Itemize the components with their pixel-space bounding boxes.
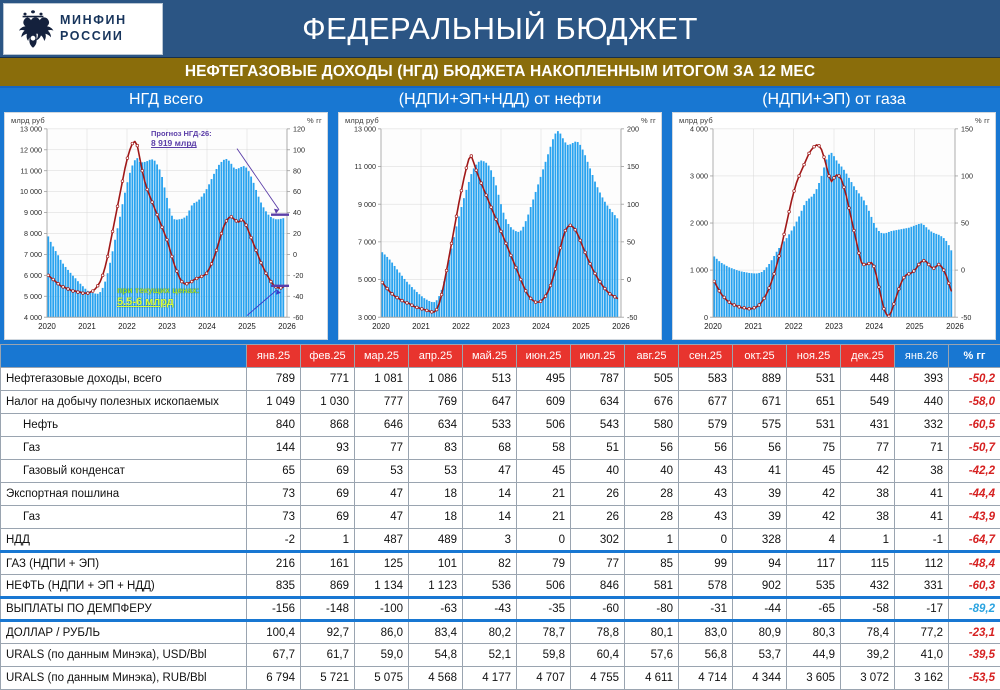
cell-авг.25: 57,6 — [625, 644, 679, 667]
svg-text:150: 150 — [627, 163, 639, 171]
cell-май.25: -43 — [463, 598, 517, 621]
cell-апр.25: 4 568 — [409, 667, 463, 690]
cell-июл.25: 787 — [571, 368, 625, 391]
cell-дек.25: 39,2 — [841, 644, 895, 667]
header-month-10: ноя.25 — [787, 345, 841, 368]
header-month-1: фев.25 — [301, 345, 355, 368]
cell-мар.25: 47 — [355, 483, 409, 506]
cell-июн.25: 609 — [517, 391, 571, 414]
svg-text:20: 20 — [293, 230, 301, 238]
cell-июл.25: 60,4 — [571, 644, 625, 667]
cell-июн.25: 59,8 — [517, 644, 571, 667]
row-label: URALS (по данным Минэка), RUB/Bbl — [1, 667, 247, 690]
cell-сен.25: 677 — [679, 391, 733, 414]
cell-авг.25: 28 — [625, 506, 679, 529]
svg-text:2026: 2026 — [946, 322, 964, 331]
svg-text:5 000: 5 000 — [24, 293, 42, 301]
cell-июл.25: 4 755 — [571, 667, 625, 690]
svg-text:0: 0 — [293, 251, 297, 259]
cell-дек.25: 432 — [841, 575, 895, 598]
cell-янв.25: 789 — [247, 368, 301, 391]
cell-сен.25: 56 — [679, 437, 733, 460]
cell-янв.25: 144 — [247, 437, 301, 460]
cell-фев.25: 69 — [301, 506, 355, 529]
cell-yoy: -58,0 — [949, 391, 1000, 414]
svg-text:4 000: 4 000 — [690, 125, 708, 133]
row-label: Налог на добычу полезных ископаемых — [1, 391, 247, 414]
cell-авг.25: 505 — [625, 368, 679, 391]
svg-text:3 000: 3 000 — [358, 314, 376, 322]
chart-panel-oil: (НДПИ+ЭП+НДД) от нефти млрд руб % гг 3 0… — [332, 88, 666, 344]
cell-дек.25: 549 — [841, 391, 895, 414]
data-table-wrapper: янв.25фев.25мар.25апр.25май.25июн.25июл.… — [0, 344, 1000, 689]
cell-янв.25: 65 — [247, 460, 301, 483]
cell-июл.25: 26 — [571, 506, 625, 529]
svg-text:2024: 2024 — [865, 322, 883, 331]
header-blank-cell — [1, 345, 247, 368]
svg-text:6 000: 6 000 — [24, 272, 42, 280]
cell-окт.25: 53,7 — [733, 644, 787, 667]
header-month-5: июн.25 — [517, 345, 571, 368]
svg-text:2021: 2021 — [78, 322, 96, 331]
header-yoy: % гг — [949, 345, 1000, 368]
svg-text:100: 100 — [961, 173, 973, 181]
cell-апр.25: 53 — [409, 460, 463, 483]
cell-сен.25: 99 — [679, 552, 733, 575]
svg-text:5 000: 5 000 — [358, 276, 376, 284]
chart-panel-total: НГД всего млрд руб % гг 4 0005 0006 0007… — [0, 88, 332, 344]
cell-сен.25: 0 — [679, 529, 733, 552]
svg-text:2025: 2025 — [238, 322, 256, 331]
cell-фев.25: 92,7 — [301, 621, 355, 644]
cell-июл.25: -60 — [571, 598, 625, 621]
table-row: НЕФТЬ (НДПИ + ЭП + НДД)8358691 1341 1235… — [1, 575, 1000, 598]
svg-text:120: 120 — [293, 125, 305, 133]
cell-апр.25: 769 — [409, 391, 463, 414]
cell-окт.25: 41 — [733, 460, 787, 483]
cell-янв.25: 67,7 — [247, 644, 301, 667]
cell-янв.25: 6 794 — [247, 667, 301, 690]
chart-title-oil: (НДПИ+ЭП+НДД) от нефти — [334, 88, 666, 112]
chart-body-gas: млрд руб % гг 01 0002 0003 0004 000-5005… — [672, 112, 996, 340]
cell-янв.25: -2 — [247, 529, 301, 552]
cell-июл.25: 51 — [571, 437, 625, 460]
cell-сен.25: 83,0 — [679, 621, 733, 644]
subtitle-banner: НЕФТЕГАЗОВЫЕ ДОХОДЫ (НГД) БЮДЖЕТА НАКОПЛ… — [0, 58, 1000, 88]
cell-мар.25: 5 075 — [355, 667, 409, 690]
svg-text:2026: 2026 — [278, 322, 296, 331]
logo-line-1: МИНФИН — [60, 13, 127, 29]
cell-авг.25: 40 — [625, 460, 679, 483]
header-month-0: янв.25 — [247, 345, 301, 368]
svg-text:2021: 2021 — [744, 322, 762, 331]
cell-yoy: -50,7 — [949, 437, 1000, 460]
cell-июл.25: 26 — [571, 483, 625, 506]
cell-jan26: 38 — [895, 460, 949, 483]
cell-окт.25: 328 — [733, 529, 787, 552]
cell-янв.25: 1 049 — [247, 391, 301, 414]
cell-май.25: 536 — [463, 575, 517, 598]
cell-ноя.25: 75 — [787, 437, 841, 460]
svg-text:2022: 2022 — [785, 322, 803, 331]
cell-июн.25: 58 — [517, 437, 571, 460]
svg-text:2024: 2024 — [532, 322, 550, 331]
cell-jan26: 332 — [895, 414, 949, 437]
cell-янв.25: 835 — [247, 575, 301, 598]
cell-июн.25: 0 — [517, 529, 571, 552]
cell-ноя.25: 42 — [787, 506, 841, 529]
cell-дек.25: 42 — [841, 460, 895, 483]
cell-yoy: -64,7 — [949, 529, 1000, 552]
cell-июн.25: -35 — [517, 598, 571, 621]
cell-jan26: -1 — [895, 529, 949, 552]
cell-дек.25: 77 — [841, 437, 895, 460]
cell-окт.25: 39 — [733, 483, 787, 506]
row-label: Газовый конденсат — [1, 460, 247, 483]
cell-июн.25: 79 — [517, 552, 571, 575]
cell-авг.25: 56 — [625, 437, 679, 460]
svg-text:0: 0 — [961, 267, 965, 275]
cell-янв.25: -156 — [247, 598, 301, 621]
svg-text:2023: 2023 — [825, 322, 843, 331]
cell-yoy: -89,2 — [949, 598, 1000, 621]
logo-line-2: РОССИИ — [60, 29, 127, 45]
cell-jan26: 112 — [895, 552, 949, 575]
header-month-3: апр.25 — [409, 345, 463, 368]
cell-фев.25: 869 — [301, 575, 355, 598]
svg-text:2024: 2024 — [198, 322, 216, 331]
svg-text:80: 80 — [293, 167, 301, 175]
cell-фев.25: 69 — [301, 483, 355, 506]
cell-апр.25: 101 — [409, 552, 463, 575]
cell-май.25: 4 177 — [463, 667, 517, 690]
cell-сен.25: 583 — [679, 368, 733, 391]
table-row: Нефть84086864663453350654358057957553143… — [1, 414, 1000, 437]
svg-text:-50: -50 — [961, 314, 971, 322]
ministry-logo: МИНФИН РОССИИ — [3, 3, 163, 55]
budget-table: янв.25фев.25мар.25апр.25май.25июн.25июл.… — [0, 344, 1000, 690]
cell-сен.25: 43 — [679, 506, 733, 529]
cell-авг.25: 4 611 — [625, 667, 679, 690]
cell-май.25: 68 — [463, 437, 517, 460]
cell-сен.25: -31 — [679, 598, 733, 621]
svg-text:-50: -50 — [627, 314, 637, 322]
chart-title-total: НГД всего — [0, 88, 332, 112]
cell-окт.25: 575 — [733, 414, 787, 437]
cell-авг.25: 1 — [625, 529, 679, 552]
cell-yoy: -48,4 — [949, 552, 1000, 575]
cell-фев.25: 5 721 — [301, 667, 355, 690]
svg-text:12 000: 12 000 — [20, 146, 42, 154]
cell-июл.25: 543 — [571, 414, 625, 437]
cell-jan26: 393 — [895, 368, 949, 391]
cell-июл.25: 78,8 — [571, 621, 625, 644]
svg-text:2022: 2022 — [452, 322, 470, 331]
cell-июн.25: 78,7 — [517, 621, 571, 644]
cell-дек.25: 38 — [841, 483, 895, 506]
cell-апр.25: 83,4 — [409, 621, 463, 644]
cell-мар.25: 487 — [355, 529, 409, 552]
header-month-8: сен.25 — [679, 345, 733, 368]
header-month-9: окт.25 — [733, 345, 787, 368]
cell-окт.25: 39 — [733, 506, 787, 529]
cell-yoy: -23,1 — [949, 621, 1000, 644]
svg-text:2020: 2020 — [372, 322, 390, 331]
table-row: НДД-21487489303021032841-1-64,7 — [1, 529, 1000, 552]
cell-мар.25: 53 — [355, 460, 409, 483]
cell-сен.25: 56,8 — [679, 644, 733, 667]
cell-май.25: 647 — [463, 391, 517, 414]
cell-окт.25: -44 — [733, 598, 787, 621]
cell-июн.25: 21 — [517, 483, 571, 506]
row-label: Нефтегазовые доходы, всего — [1, 368, 247, 391]
table-row: Газовый конденсат65695353474540404341454… — [1, 460, 1000, 483]
cell-янв.25: 73 — [247, 483, 301, 506]
cell-ноя.25: 45 — [787, 460, 841, 483]
cell-янв.25: 73 — [247, 506, 301, 529]
cell-апр.25: -63 — [409, 598, 463, 621]
cell-yoy: -44,4 — [949, 483, 1000, 506]
cell-окт.25: 889 — [733, 368, 787, 391]
cell-jan26: 41 — [895, 506, 949, 529]
cell-ноя.25: 4 — [787, 529, 841, 552]
cell-jan26: 331 — [895, 575, 949, 598]
table-row: ГАЗ (НДПИ + ЭП)2161611251018279778599941… — [1, 552, 1000, 575]
cell-фев.25: 93 — [301, 437, 355, 460]
cell-ноя.25: 535 — [787, 575, 841, 598]
cell-май.25: 80,2 — [463, 621, 517, 644]
cell-янв.25: 100,4 — [247, 621, 301, 644]
cell-мар.25: 47 — [355, 506, 409, 529]
header-month-7: авг.25 — [625, 345, 679, 368]
cell-апр.25: 18 — [409, 483, 463, 506]
svg-text:8 000: 8 000 — [24, 230, 42, 238]
row-label: НЕФТЬ (НДПИ + ЭП + НДД) — [1, 575, 247, 598]
row-label: Нефть — [1, 414, 247, 437]
cell-авг.25: 676 — [625, 391, 679, 414]
cell-май.25: 47 — [463, 460, 517, 483]
masthead: МИНФИН РОССИИ ФЕДЕРАЛЬНЫЙ БЮДЖЕТ — [0, 0, 1000, 58]
cell-ноя.25: 80,3 — [787, 621, 841, 644]
svg-text:-20: -20 — [293, 272, 303, 280]
cell-май.25: 52,1 — [463, 644, 517, 667]
cell-апр.25: 18 — [409, 506, 463, 529]
cell-jan26: 71 — [895, 437, 949, 460]
svg-text:2025: 2025 — [572, 322, 590, 331]
cell-ноя.25: 3 605 — [787, 667, 841, 690]
cell-jan26: 440 — [895, 391, 949, 414]
cell-июн.25: 45 — [517, 460, 571, 483]
table-head: янв.25фев.25мар.25апр.25май.25июн.25июл.… — [1, 345, 1000, 368]
row-label: НДД — [1, 529, 247, 552]
cell-yoy: -39,5 — [949, 644, 1000, 667]
cell-дек.25: 3 072 — [841, 667, 895, 690]
plot-area-oil: 3 0005 0007 0009 00011 00013 000-5005010… — [339, 113, 661, 339]
cell-май.25: 513 — [463, 368, 517, 391]
cell-мар.25: 125 — [355, 552, 409, 575]
cell-апр.25: 1 123 — [409, 575, 463, 598]
cell-май.25: 82 — [463, 552, 517, 575]
svg-text:40: 40 — [293, 209, 301, 217]
svg-text:11 000: 11 000 — [355, 163, 376, 171]
svg-text:2020: 2020 — [704, 322, 722, 331]
cell-июн.25: 506 — [517, 414, 571, 437]
svg-text:9 000: 9 000 — [358, 201, 376, 209]
cell-мар.25: 1 134 — [355, 575, 409, 598]
cell-jan26: 77,2 — [895, 621, 949, 644]
cell-апр.25: 54,8 — [409, 644, 463, 667]
cell-окт.25: 671 — [733, 391, 787, 414]
cell-фев.25: 1 — [301, 529, 355, 552]
cell-май.25: 533 — [463, 414, 517, 437]
cell-авг.25: 581 — [625, 575, 679, 598]
table-row: ВЫПЛАТЫ ПО ДЕМПФЕРУ-156-148-100-63-43-35… — [1, 598, 1000, 621]
svg-text:150: 150 — [961, 125, 973, 133]
chart-body-oil: млрд руб % гг 3 0005 0007 0009 00011 000… — [338, 112, 662, 340]
svg-text:0: 0 — [704, 314, 708, 322]
cell-июл.25: 846 — [571, 575, 625, 598]
table-header-row: янв.25фев.25мар.25апр.25май.25июн.25июл.… — [1, 345, 1000, 368]
cell-мар.25: 77 — [355, 437, 409, 460]
svg-text:2020: 2020 — [38, 322, 56, 331]
cell-yoy: -53,5 — [949, 667, 1000, 690]
header-month-11: дек.25 — [841, 345, 895, 368]
cell-фев.25: 771 — [301, 368, 355, 391]
table-row: ДОЛЛАР / РУБЛЬ100,492,786,083,480,278,77… — [1, 621, 1000, 644]
row-label: Газ — [1, 437, 247, 460]
cell-июн.25: 4 707 — [517, 667, 571, 690]
svg-text:3 000: 3 000 — [690, 173, 708, 181]
cell-ноя.25: 42 — [787, 483, 841, 506]
svg-text:7 000: 7 000 — [358, 238, 376, 246]
cell-сен.25: 43 — [679, 483, 733, 506]
cell-май.25: 14 — [463, 506, 517, 529]
cell-фев.25: 868 — [301, 414, 355, 437]
cell-ноя.25: 44,9 — [787, 644, 841, 667]
cell-дек.25: 38 — [841, 506, 895, 529]
cell-дек.25: 78,4 — [841, 621, 895, 644]
cell-июн.25: 21 — [517, 506, 571, 529]
table-row: Экспортная пошлина7369471814212628433942… — [1, 483, 1000, 506]
cell-jan26: 41,0 — [895, 644, 949, 667]
row-label: Газ — [1, 506, 247, 529]
cell-дек.25: -58 — [841, 598, 895, 621]
svg-text:100: 100 — [627, 201, 639, 209]
charts-row: НГД всего млрд руб % гг 4 0005 0006 0007… — [0, 88, 1000, 344]
cell-мар.25: 59,0 — [355, 644, 409, 667]
cell-янв.25: 216 — [247, 552, 301, 575]
cell-июн.25: 506 — [517, 575, 571, 598]
svg-text:2022: 2022 — [118, 322, 136, 331]
double-headed-eagle-icon — [12, 7, 54, 51]
cell-yoy: -42,2 — [949, 460, 1000, 483]
cell-фев.25: 69 — [301, 460, 355, 483]
cell-yoy: -50,2 — [949, 368, 1000, 391]
cell-мар.25: 1 081 — [355, 368, 409, 391]
cell-окт.25: 4 344 — [733, 667, 787, 690]
row-label: URALS (по данным Минэка), USD/Bbl — [1, 644, 247, 667]
cell-ноя.25: 531 — [787, 414, 841, 437]
header-month-6: июл.25 — [571, 345, 625, 368]
svg-text:200: 200 — [627, 125, 639, 133]
cell-ноя.25: 117 — [787, 552, 841, 575]
svg-text:60: 60 — [293, 188, 301, 196]
header-jan26: янв.26 — [895, 345, 949, 368]
svg-text:7 000: 7 000 — [24, 251, 42, 259]
cell-окт.25: 94 — [733, 552, 787, 575]
svg-text:2023: 2023 — [158, 322, 176, 331]
cell-yoy: -60,3 — [949, 575, 1000, 598]
row-label: ДОЛЛАР / РУБЛЬ — [1, 621, 247, 644]
cell-дек.25: 115 — [841, 552, 895, 575]
cell-янв.25: 840 — [247, 414, 301, 437]
svg-text:100: 100 — [293, 146, 305, 154]
cell-дек.25: 1 — [841, 529, 895, 552]
cell-сен.25: 4 714 — [679, 667, 733, 690]
cell-авг.25: -80 — [625, 598, 679, 621]
cell-дек.25: 448 — [841, 368, 895, 391]
cell-апр.25: 83 — [409, 437, 463, 460]
row-label: ГАЗ (НДПИ + ЭП) — [1, 552, 247, 575]
svg-text:11 000: 11 000 — [21, 167, 42, 175]
cell-июл.25: 40 — [571, 460, 625, 483]
cell-фев.25: 161 — [301, 552, 355, 575]
table-row: Нефтегазовые доходы, всего7897711 0811 0… — [1, 368, 1000, 391]
cell-май.25: 3 — [463, 529, 517, 552]
cell-yoy: -43,9 — [949, 506, 1000, 529]
cell-jan26: 3 162 — [895, 667, 949, 690]
cell-июл.25: 634 — [571, 391, 625, 414]
row-label: ВЫПЛАТЫ ПО ДЕМПФЕРУ — [1, 598, 247, 621]
dashboard-page: МИНФИН РОССИИ ФЕДЕРАЛЬНЫЙ БЮДЖЕТ НЕФТЕГА… — [0, 0, 1000, 690]
cell-май.25: 14 — [463, 483, 517, 506]
table-row: URALS (по данным Минэка), USD/Bbl67,761,… — [1, 644, 1000, 667]
svg-text:10 000: 10 000 — [20, 188, 42, 196]
svg-text:9 000: 9 000 — [24, 209, 42, 217]
cell-окт.25: 56 — [733, 437, 787, 460]
cell-ноя.25: 651 — [787, 391, 841, 414]
plot-area-gas: 01 0002 0003 0004 000-500501001502020202… — [673, 113, 995, 339]
row-label: Экспортная пошлина — [1, 483, 247, 506]
cell-yoy: -60,5 — [949, 414, 1000, 437]
svg-text:13 000: 13 000 — [20, 125, 42, 133]
cell-сен.25: 579 — [679, 414, 733, 437]
cell-мар.25: -100 — [355, 598, 409, 621]
table-body: Нефтегазовые доходы, всего7897711 0811 0… — [1, 368, 1000, 690]
svg-text:2 000: 2 000 — [690, 220, 708, 228]
cell-авг.25: 580 — [625, 414, 679, 437]
cell-окт.25: 80,9 — [733, 621, 787, 644]
svg-text:0: 0 — [627, 276, 631, 284]
cell-мар.25: 646 — [355, 414, 409, 437]
svg-text:13 000: 13 000 — [354, 125, 376, 133]
chart-title-gas: (НДПИ+ЭП) от газа — [668, 88, 1000, 112]
cell-фев.25: 1 030 — [301, 391, 355, 414]
cell-июн.25: 495 — [517, 368, 571, 391]
svg-text:-40: -40 — [293, 293, 303, 301]
table-row: Газ144937783685851565656757771-50,7 — [1, 437, 1000, 460]
cell-ноя.25: 531 — [787, 368, 841, 391]
ministry-logo-text: МИНФИН РОССИИ — [60, 13, 127, 44]
cell-мар.25: 86,0 — [355, 621, 409, 644]
svg-text:-60: -60 — [293, 314, 303, 322]
svg-text:50: 50 — [627, 238, 635, 246]
svg-text:4 000: 4 000 — [24, 314, 42, 322]
svg-text:50: 50 — [961, 220, 969, 228]
svg-text:1 000: 1 000 — [690, 267, 708, 275]
cell-окт.25: 902 — [733, 575, 787, 598]
svg-text:2026: 2026 — [612, 322, 630, 331]
